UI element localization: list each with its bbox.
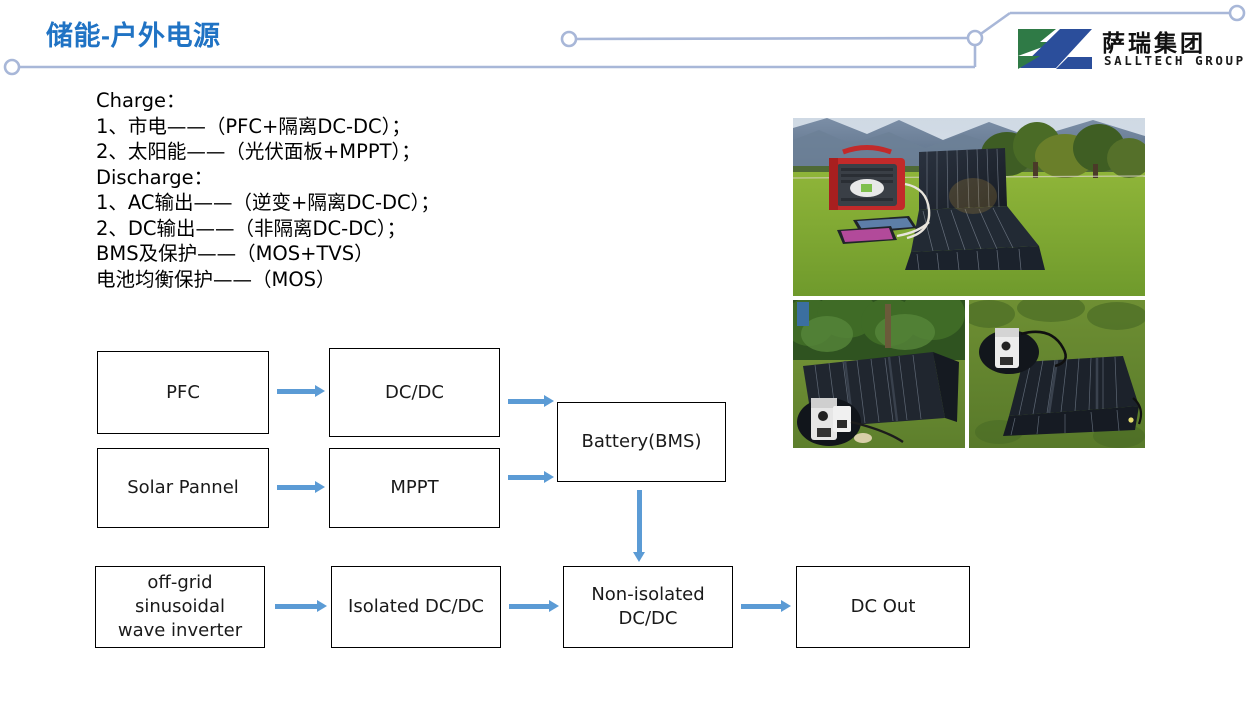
arrow-dcdc-to-battery	[508, 390, 554, 412]
text-line-2: 1、市电——（PFC+隔离DC-DC）；	[96, 114, 696, 140]
flow-box-pfc[interactable]: PFC	[97, 351, 269, 434]
text-line-6: 2、DC输出——（非隔离DC-DC）；	[96, 216, 696, 242]
slide-canvas: 储能-户外电源 萨瑞集团 SALLTECH GROUP Charge： 1、市电…	[0, 0, 1255, 705]
flow-box-label: MPPT	[390, 476, 438, 500]
flow-box-label: PFC	[166, 381, 200, 405]
flow-box-inverter[interactable]: off-grid sinusoidal wave inverter	[95, 566, 265, 648]
text-line-8: 电池均衡保护——（MOS）	[96, 267, 696, 293]
arrow-mppt-to-battery	[508, 466, 554, 488]
flow-box-label: Non-isolated DC/DC	[591, 583, 704, 631]
photo-bottom-left	[793, 300, 965, 448]
text-line-5: 1、AC输出——（逆变+隔离DC-DC）；	[96, 190, 696, 216]
flow-box-label: Battery(BMS)	[582, 430, 702, 454]
flow-box-dc-out[interactable]: DC Out	[796, 566, 970, 648]
arrow-non-isolated-to-dc-out	[741, 595, 791, 617]
flow-box-label: Isolated DC/DC	[348, 595, 484, 619]
salltech-logo-icon	[1016, 26, 1094, 72]
photo-main	[793, 118, 1145, 296]
flow-box-mppt[interactable]: MPPT	[329, 448, 500, 528]
arrow-inverter-to-isolated	[275, 595, 327, 617]
text-line-1: Charge：	[96, 88, 696, 114]
flow-box-label: DC Out	[851, 595, 916, 619]
text-line-3: 2、太阳能——（光伏面板+MPPT）；	[96, 139, 696, 165]
flow-box-isolated-dcdc[interactable]: Isolated DC/DC	[331, 566, 501, 648]
company-logo: 萨瑞集团 SALLTECH GROUP	[1016, 24, 1242, 74]
arrow-solar-to-mppt	[277, 476, 325, 498]
flow-box-label: Solar Pannel	[127, 476, 239, 500]
logo-name-en: SALLTECH GROUP	[1104, 53, 1246, 68]
flow-box-battery[interactable]: Battery(BMS)	[557, 402, 726, 482]
flow-box-label: off-grid sinusoidal wave inverter	[118, 571, 242, 643]
photo-collage	[793, 118, 1145, 448]
arrow-isolated-to-non-isolated	[509, 595, 559, 617]
page-title: 储能-户外电源	[46, 14, 221, 53]
text-line-4: Discharge：	[96, 165, 696, 191]
flow-box-solar-pannel[interactable]: Solar Pannel	[97, 448, 269, 528]
arrow-battery-to-non-isolated	[628, 490, 650, 562]
flow-box-dcdc[interactable]: DC/DC	[329, 348, 500, 437]
flow-box-non-isolated-dcdc[interactable]: Non-isolated DC/DC	[563, 566, 733, 648]
photo-bottom-right	[969, 300, 1145, 448]
text-line-7: BMS及保护——（MOS+TVS）	[96, 241, 696, 267]
description-text-block: Charge： 1、市电——（PFC+隔离DC-DC）； 2、太阳能——（光伏面…	[96, 88, 696, 292]
arrow-pfc-to-dcdc	[277, 380, 325, 402]
flow-box-label: DC/DC	[385, 381, 444, 405]
